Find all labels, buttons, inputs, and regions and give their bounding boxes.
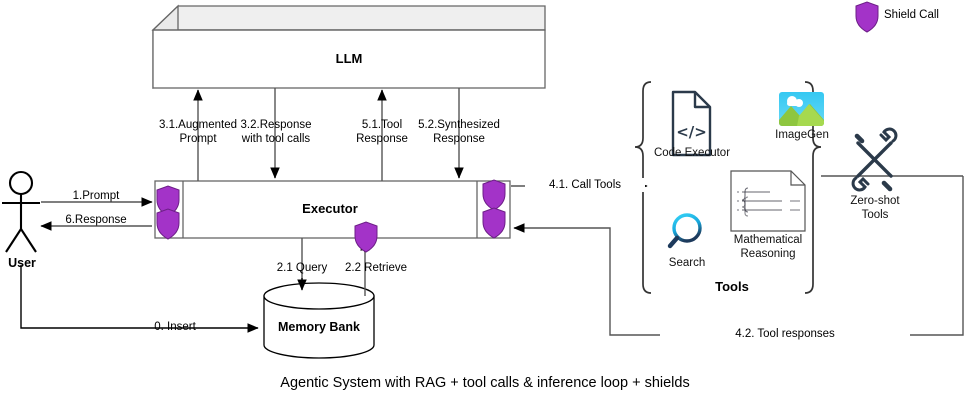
diagram-canvas: </>: [0, 0, 970, 411]
tool-label-mathematical-reasoning-line2: Reasoning: [718, 247, 818, 261]
edge-label-3-2-response-with-tool-calls-line2: with tool calls: [216, 132, 336, 146]
magnifier-icon: [670, 215, 700, 246]
crossed-tools-icon: [853, 129, 896, 190]
legend-label: Shield Call: [884, 8, 939, 22]
tool-label-mathematical-reasoning-line1: Mathematical: [718, 233, 818, 247]
shield-input-top-icon: [157, 186, 179, 216]
tools-group-label: Tools: [651, 280, 813, 294]
shield-tools-bottom-icon: [483, 208, 505, 238]
legend-shield-icon: [856, 2, 878, 32]
tool-label-zero-shot-tools-line1: Zero-shot: [836, 194, 914, 208]
edge-0-insert: [21, 265, 258, 328]
user-stick-figure-shape: [2, 172, 40, 252]
edge-label-5-2-synthesized-response-line1: 5.2.Synthesized: [399, 118, 519, 132]
llm-cube-shape: [153, 6, 545, 88]
diagram-caption: Agentic System with RAG + tool calls & i…: [0, 375, 970, 391]
tool-label-imagegen: ImageGen: [757, 128, 847, 142]
memory-bank-label: Memory Bank: [264, 320, 374, 334]
edge-label-3-2-response-with-tool-calls-line1: 3.2.Response: [216, 118, 336, 132]
edge-label-4-1-call-tools: 4.1. Call Tools: [525, 178, 645, 192]
tool-label-search: Search: [655, 256, 719, 270]
image-photo-icon: [779, 92, 824, 126]
edge-label-5-2-synthesized-response-line2: Response: [399, 132, 519, 146]
edge-label-1-prompt: 1.Prompt: [46, 189, 146, 203]
shield-input-bottom-icon: [157, 209, 179, 239]
llm-label: LLM: [153, 52, 545, 66]
shield-tools-top-icon: [483, 180, 505, 210]
tool-label-code-executor: Code Executor: [645, 146, 739, 160]
edge-label-0-insert: 0. Insert: [100, 320, 250, 334]
executor-label: Executor: [183, 202, 477, 216]
edge-label-4-2-tool-responses: 4.2. Tool responses: [660, 327, 910, 341]
edge-label-6-response: 6.Response: [44, 213, 148, 227]
formula-document-icon: [731, 171, 805, 231]
edge-label-2-2-retrieve: 2.2 Retrieve: [330, 261, 422, 275]
tool-label-zero-shot-tools-line2: Tools: [836, 208, 914, 222]
svg-text:</>: </>: [676, 123, 707, 141]
shield-memory-icon: [355, 222, 377, 252]
user-label: User: [0, 256, 44, 270]
